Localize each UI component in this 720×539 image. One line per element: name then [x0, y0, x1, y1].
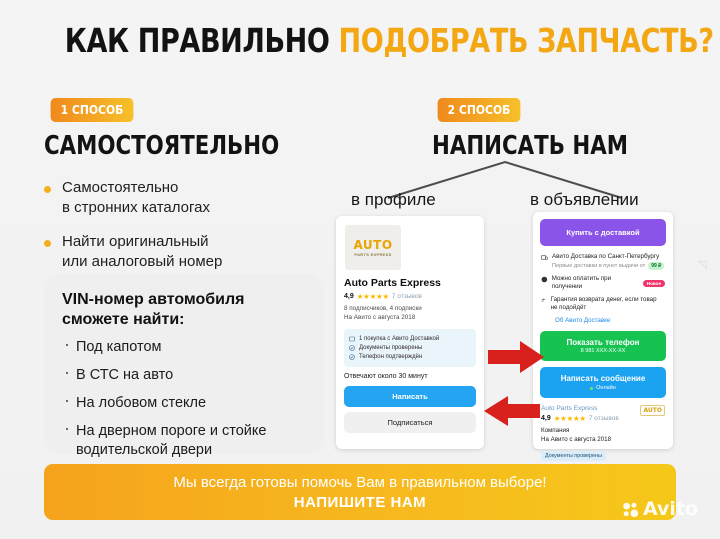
list-item: Гарантия возврата денег, если товар не п… — [541, 296, 665, 312]
about-delivery-link[interactable]: Об Авито Доставке — [555, 317, 665, 324]
chip-label: Документы проверены — [359, 345, 422, 351]
list-item: Документы проверены — [349, 345, 471, 351]
rating-value: 4,9 — [344, 293, 354, 300]
chip-label: 1 покупка с Авито Доставкой — [359, 336, 439, 342]
list-item: Авито Доставка по Санкт-Петербургу Первы… — [541, 253, 665, 270]
poster-root: КАК ПРАВИЛЬНО ПОДОБРАТЬ ЗАПЧАСТЬ? 1 СПОС… — [0, 0, 720, 539]
profile-screenshot-card: AUTO PARTS EXPRESS Auto Parts Express 4,… — [336, 216, 484, 449]
seller-type: Компания — [541, 426, 665, 435]
seller-since: На Авито с августа 2018 — [541, 435, 665, 444]
page-title: КАК ПРАВИЛЬНО ПОДОБРАТЬ ЗАПЧАСТЬ? — [65, 22, 655, 60]
bullet-text: Самостоятельно в стронних каталогах — [62, 178, 210, 218]
online-status-label: Онлайн — [596, 385, 616, 391]
shop-logo-sub: PARTS EXPRESS — [354, 252, 391, 257]
arrow-left-icon — [484, 396, 540, 426]
buy-with-delivery-button[interactable]: Купить с доставкой — [540, 219, 666, 246]
seller-block: Auto Parts Express 4,9 ★★★★★ 7 отзывов A… — [541, 405, 665, 462]
heading-method-one: САМОСТОЯТЕЛЬНО — [44, 132, 279, 160]
seller-logo: AUTO — [640, 405, 665, 416]
check-circle-icon — [349, 354, 355, 360]
money-back-text: Гарантия возврата денег, если товар не п… — [551, 296, 665, 312]
list-item: Под капотом — [62, 338, 306, 357]
online-dot-icon — [590, 387, 593, 390]
pay-on-delivery-text: Можно оплатить при получении — [552, 275, 639, 291]
heading-method-two: НАПИСАТЬ НАМ — [432, 132, 628, 160]
documents-verified-chip: Документы проверены — [541, 451, 606, 461]
reviews-count[interactable]: 7 отзывов — [392, 293, 422, 300]
title-part-2: ПОДОБРАТЬ ЗАПЧАСТЬ? — [339, 21, 714, 60]
wallet-icon — [541, 276, 548, 283]
label-in-profile: в профиле — [351, 190, 436, 210]
show-phone-button[interactable]: Показать телефон 8 981 XXX-XX-XX — [540, 331, 666, 361]
badge-method-one: 1 СПОСОБ — [51, 98, 134, 122]
corner-marker: ◹ — [698, 258, 706, 271]
bullet-text: Найти оригинальный или аналоговый номер — [62, 232, 222, 272]
vin-location-list: Под капотом В СТС на авто На лобовом сте… — [62, 338, 306, 460]
cart-icon — [349, 336, 355, 342]
bullet-dot-icon — [44, 240, 51, 247]
subscribe-button[interactable]: Подписаться — [344, 412, 476, 433]
seller-name[interactable]: Auto Parts Express — [541, 405, 619, 412]
list-item: На лобовом стекле — [62, 394, 306, 413]
vin-info-card: VIN-номер автомобиля сможете найти: Под … — [44, 274, 324, 454]
seller-rating-value: 4,9 — [541, 415, 551, 422]
shop-name: Auto Parts Express — [344, 277, 476, 289]
avito-logo-icon — [622, 501, 639, 518]
star-icon: ★★★★★ — [357, 292, 389, 301]
new-badge: Новое — [643, 280, 665, 287]
show-phone-label: Показать телефон — [540, 338, 666, 347]
write-button[interactable]: Написать — [344, 386, 476, 407]
list-item: Найти оригинальный или аналоговый номер — [44, 232, 314, 272]
send-message-label: Написать сообщение — [540, 374, 666, 383]
delivery-price-label: Первые доставки в пункт выдачи от — [552, 263, 645, 269]
avito-watermark: Avito — [622, 500, 698, 519]
list-item: Можно оплатить при получении Новое — [541, 275, 665, 291]
followers-line: 8 подписчиков, 4 подписки — [344, 304, 476, 313]
badge-method-two: 2 СПОСОБ — [438, 98, 521, 122]
bullet-dot-icon — [44, 186, 51, 193]
cta-banner: Мы всегда готовы помочь Вам в правильном… — [44, 464, 676, 520]
delivery-price-line: Первые доставки в пункт выдачи от 99 ₽ — [552, 262, 664, 270]
list-item: В СТС на авто — [62, 366, 306, 385]
shop-logo-main: AUTO — [353, 239, 392, 251]
online-status: Онлайн — [540, 385, 666, 391]
list-item: Самостоятельно в стронних каталогах — [44, 178, 314, 218]
answer-time: Отвечают около 30 минут — [344, 373, 476, 380]
cta-line-1: Мы всегда готовы помочь Вам в правильном… — [44, 473, 676, 493]
arrow-right-icon — [488, 341, 544, 373]
return-arrow-icon — [541, 297, 547, 304]
list-item: На дверном пороге и стойке водительской … — [62, 422, 306, 460]
star-icon: ★★★★★ — [554, 414, 586, 423]
trust-chips: 1 покупка с Авито Доставкой Документы пр… — [344, 329, 476, 367]
label-in-advert: в объявлении — [530, 190, 639, 210]
delivery-box-icon — [541, 254, 548, 261]
list-item: 1 покупка с Авито Доставкой — [349, 336, 471, 342]
method-one-bullets: Самостоятельно в стронних каталогах Найт… — [44, 178, 314, 286]
vin-card-title: VIN-номер автомобиля сможете найти: — [62, 290, 306, 330]
cta-line-2: НАПИШИТЕ НАМ — [44, 493, 676, 513]
seller-reviews-count[interactable]: 7 отзывов — [589, 415, 619, 422]
delivery-city-text: Авито Доставка по Санкт-Петербургу — [552, 253, 664, 261]
price-badge: 99 ₽ — [648, 262, 664, 270]
list-item: Телефон подтверждён — [349, 354, 471, 360]
check-circle-icon — [349, 345, 355, 351]
avito-watermark-text: Avito — [643, 500, 698, 519]
seller-rating-row: 4,9 ★★★★★ 7 отзывов — [541, 414, 619, 423]
rating-row: 4,9 ★★★★★ 7 отзывов — [344, 292, 476, 301]
title-part-1: КАК ПРАВИЛЬНО — [65, 21, 330, 60]
shop-logo: AUTO PARTS EXPRESS — [345, 225, 401, 270]
send-message-button[interactable]: Написать сообщение Онлайн — [540, 367, 666, 398]
member-since-line: На Авито с августа 2018 — [344, 313, 476, 322]
phone-number: 8 981 XXX-XX-XX — [540, 348, 666, 354]
advert-screenshot-card: Купить с доставкой Авито Доставка по Сан… — [533, 212, 673, 449]
chip-label: Телефон подтверждён — [359, 354, 422, 360]
